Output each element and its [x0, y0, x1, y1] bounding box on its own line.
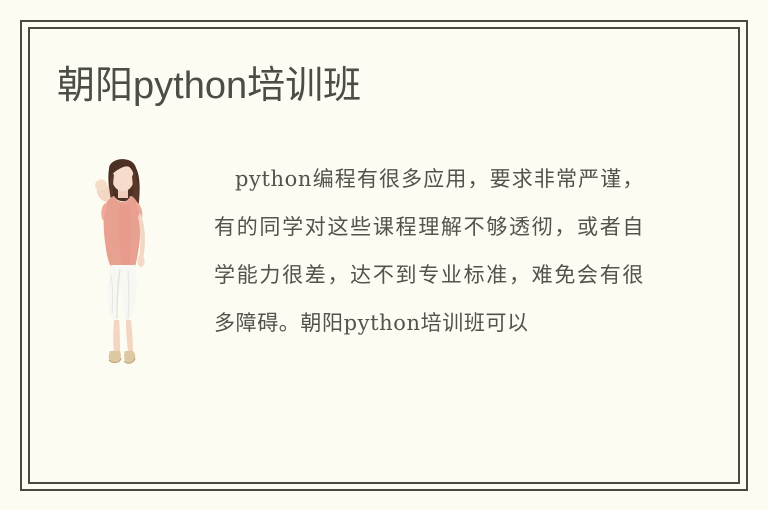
article-paragraph: python编程有很多应用，要求非常严谨，有的同学对这些课程理解不够透彻，或者自… [214, 155, 644, 347]
woman-standing-photo [76, 153, 168, 373]
article-page: 朝阳python培训班 [0, 0, 768, 510]
page-title: 朝阳python培训班 [57, 62, 361, 110]
article-body: python编程有很多应用，要求非常严谨，有的同学对这些课程理解不够透彻，或者自… [214, 155, 644, 347]
woman-figure-illustration [76, 153, 168, 373]
